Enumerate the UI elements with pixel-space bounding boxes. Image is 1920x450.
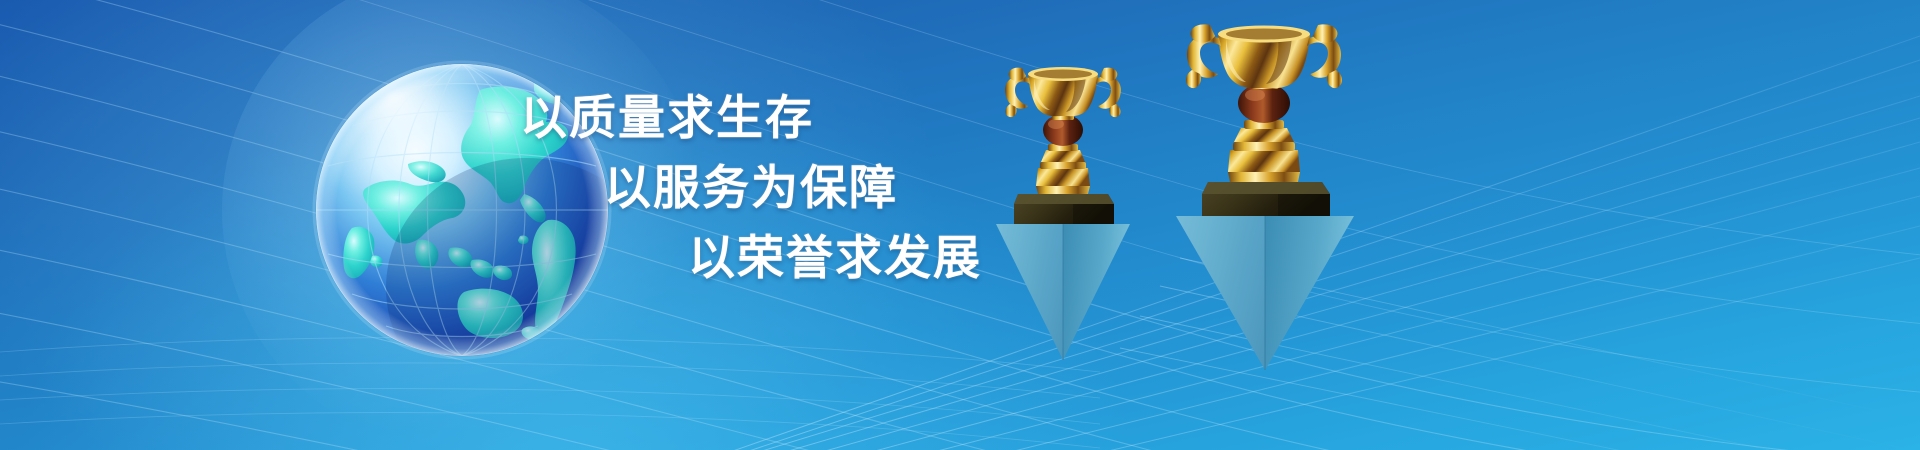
- slogan-block: 以质量求生存 以服务为保障 以荣誉求发展: [520, 94, 990, 281]
- trophy-right: [1170, 20, 1360, 380]
- trophy-base-left: [1014, 194, 1114, 224]
- trophy-cup-right: [1186, 24, 1342, 182]
- promo-banner: 以质量求生存 以服务为保障 以荣誉求发展: [0, 0, 1920, 450]
- pedestal-cone-right: [1176, 216, 1354, 370]
- pedestal-cone-left: [996, 224, 1130, 360]
- slogan-line-2: 以服务为保障: [604, 164, 990, 211]
- trophy-cup-left: [1005, 67, 1121, 194]
- trophy-base-right: [1202, 182, 1330, 216]
- slogan-line-1: 以质量求生存: [520, 94, 990, 141]
- slogan-line-3: 以荣誉求发展: [688, 234, 990, 281]
- trophy-left: [988, 38, 1138, 368]
